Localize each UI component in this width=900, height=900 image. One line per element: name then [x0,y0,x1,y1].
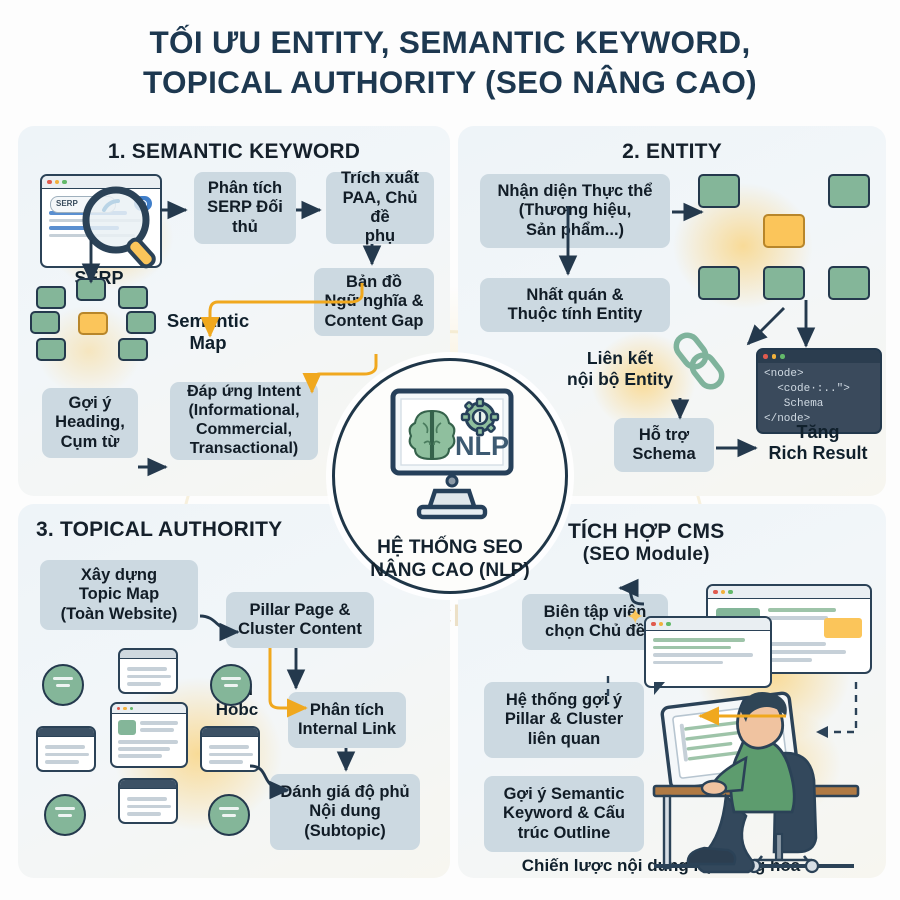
label-lien-ket-noi-bo: Liên kếtnội bộ Entity [554,348,686,389]
box-ho-tro-schema[interactable]: Hỗ trợSchema [614,418,714,472]
nlp-monitor-icon: NLP [335,383,565,533]
panel4-title-main: TÍCH HỢP CMS [568,520,724,543]
panel4-subtitle: (SEO Module) [568,544,724,566]
code-content: <node> <code·:.."> Schema</node> [758,363,880,430]
center-caption-line-2: NÂNG CAO (NLP) [335,560,565,583]
panel1-title: 1. SEMANTIC KEYWORD [18,140,450,164]
semantic-map-label: SemanticMap [158,310,258,354]
cms-card-front [644,616,772,688]
center-caption-line-1: HỆ THỐNG SEO [335,537,565,560]
box-goi-y-semantic[interactable]: Gợi ý SemanticKeyword & Cấutrúc Outline [484,776,644,852]
center-nlp-badge: NLP HỆ THỐNG SEO NÂNG CAO (NLP) [332,358,568,594]
box-pillar-cluster[interactable]: Pillar Page &Cluster Content [226,592,374,648]
label-tang-rich-result: TăngRich Result [748,422,886,464]
box-ban-do-ngu-nghia[interactable]: Bản đồNgữ nghĩa &Content Gap [314,268,434,336]
serp-browser-icon: SERP [40,174,162,268]
center-caption: HỆ THỐNG SEO NÂNG CAO (NLP) [335,537,565,583]
panel3-title: 3. TOPICAL AUTHORITY [18,518,282,542]
box-xay-dung-topic-map[interactable]: Xây dựngTopic Map(Toàn Website) [40,560,198,630]
nlp-text: NLP [455,431,509,461]
box-phan-tich-internal-link[interactable]: Phân tíchInternal Link [288,692,406,748]
title-line-1: TỐI ƯU ENTITY, SEMANTIC KEYWORD, [0,22,900,62]
box-goi-y-heading[interactable]: Gợi ýHeading,Cụm từ [42,388,138,458]
box-nhat-quan-thuoc-tinh[interactable]: Nhất quán &Thuộc tính Entity [480,278,670,332]
sparkle-icon: ✦ [626,604,644,630]
title-line-2: TOPICAL AUTHORITY (SEO NÂNG CAO) [0,62,900,102]
box-he-thong-goi-y[interactable]: Hệ thống gợi ýPillar & Clusterliên quan [484,682,644,758]
box-trich-xuat-paa[interactable]: Trích xuấtPAA, Chủ đềphụ [326,172,434,244]
panel4-footer: Chiến lược nội dung hệ thống hóa [496,856,826,876]
box-phan-tich-serp[interactable]: Phân tíchSERP Đốithủ [194,172,296,244]
box-dap-ung-intent[interactable]: Đáp ứng Intent(Informational,Commercial,… [170,382,318,460]
box-nhan-dien-thuc-the[interactable]: Nhận diện Thực thể(Thương hiệu,Sản phẩm.… [480,174,670,248]
box-danh-gia-do-phu[interactable]: Đánh giá độ phủNội dung(Subtopic) [270,774,420,850]
infographic-canvas: LHT Nhanh - Chuẩn - Đẹp TỐI ƯU ENTITY, S… [0,0,900,900]
panel2-title: 2. ENTITY [458,140,886,164]
page-title: TỐI ƯU ENTITY, SEMANTIC KEYWORD, TOPICAL… [0,22,900,103]
